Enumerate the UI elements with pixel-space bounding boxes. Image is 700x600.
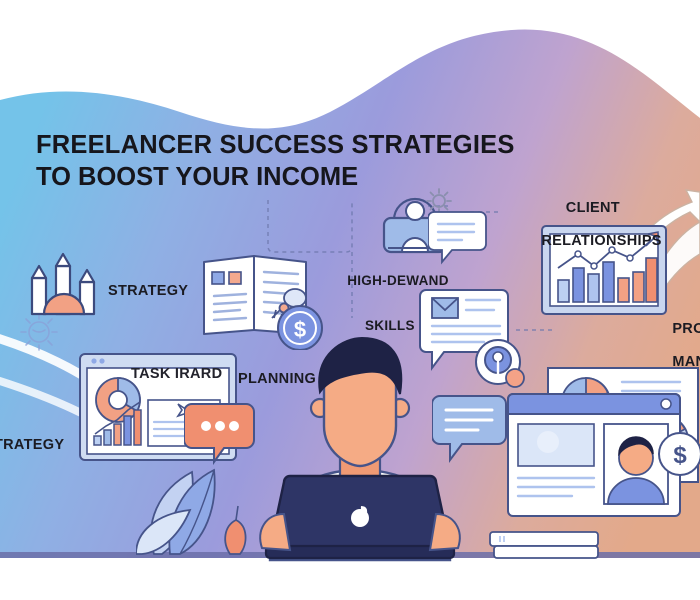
growth-arrows-icon	[18, 248, 110, 318]
poster-canvas: $	[0, 0, 700, 600]
label-product-management: PRODU MANAGI	[655, 305, 700, 386]
search-magnifier-icon	[476, 340, 524, 387]
svg-text:$: $	[673, 442, 687, 469]
label-task-board: TASK IRARD	[131, 366, 222, 382]
sun-icon	[21, 314, 57, 350]
label-client-line2: RELATIONSHIPS	[541, 233, 661, 249]
label-skills-line2: SKILLS	[331, 318, 449, 333]
label-strategy-lower: TRATEGY	[0, 437, 64, 453]
page-title: FREELANCER SUCCESS STRATEGIES	[36, 128, 515, 163]
label-planning: PLANNING	[238, 371, 316, 387]
label-client-line1: CLIENT	[524, 200, 662, 216]
label-skills-line1: HIGH-DEWAND	[347, 273, 449, 288]
label-strategy-upper: STRATEGY	[108, 283, 188, 299]
label-product-line1: PRODU	[672, 321, 700, 337]
label-product-line2: MANAGI	[672, 354, 700, 370]
page-title-line2: TO BOOST YOUR INCOME	[36, 163, 358, 192]
books-icon	[486, 522, 606, 562]
dollar-badge-icon: $	[656, 430, 700, 478]
hands-icon	[240, 486, 480, 566]
label-high-demand-skills: HIGH-DEWAND SKILLS	[331, 258, 449, 364]
label-client-relationships: CLIENT RELATIONSHIPS	[524, 168, 662, 265]
